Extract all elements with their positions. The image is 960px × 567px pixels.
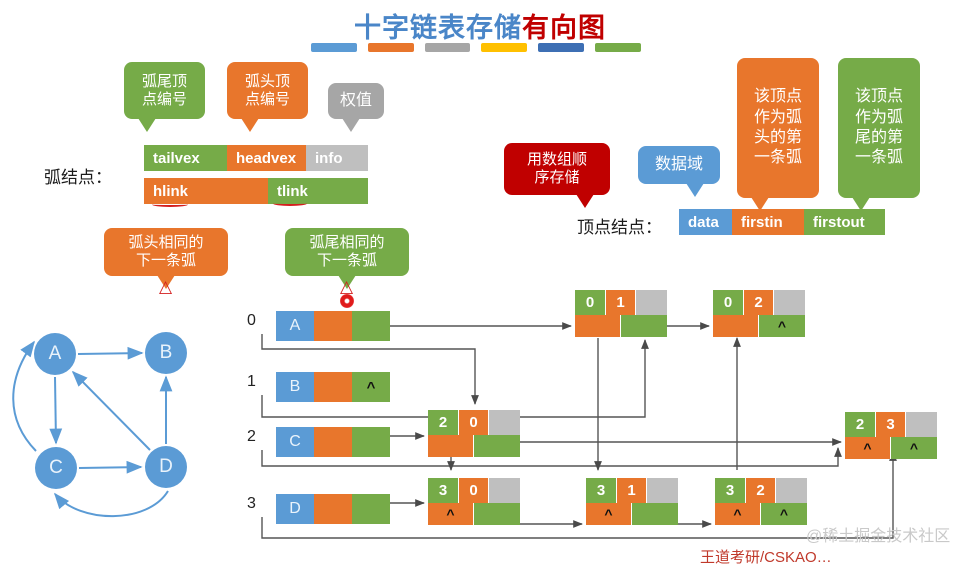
arc-3-2-hlink: ^ — [715, 503, 761, 525]
colorbar-seg-2 — [368, 43, 414, 52]
arc-3-0-tailvex: 3 — [428, 478, 459, 503]
arc-3-1-top: 3 1 — [586, 478, 678, 503]
colorbar-seg-1 — [311, 43, 357, 52]
tailvex-callout-line1: 弧尾顶 — [142, 73, 187, 91]
page-title: 十字链表存储有向图 — [0, 6, 960, 45]
arc-3-1-tlink — [632, 503, 678, 525]
vertex-1-firstout: ^ — [352, 372, 390, 402]
graph-node-d: D — [145, 446, 187, 488]
vertex-1-data: B — [276, 372, 314, 402]
arc-node-0-1: 0 1 — [575, 290, 667, 337]
arc-node-2-3: 2 3 ^ ^ — [845, 412, 937, 459]
vertex-3-firstout — [352, 494, 390, 524]
arc-node-2-0: 2 0 — [428, 410, 520, 457]
page-title-blue: 十字链表存储 — [354, 13, 522, 43]
graph-node-b: B — [145, 332, 187, 374]
arc-0-1-top: 0 1 — [575, 290, 667, 315]
arc-node-3-1: 3 1 ^ — [586, 478, 678, 525]
row-index-0: 0 — [247, 312, 256, 330]
data-domain-line1: 数据域 — [655, 156, 703, 175]
edge-d-c — [55, 491, 168, 516]
array-storage-line1: 用数组顺 — [527, 151, 587, 169]
vertex-3-firstin — [314, 494, 352, 524]
edge-c-a — [13, 342, 36, 451]
arc-3-1-headvex: 1 — [617, 478, 647, 503]
arc-node-0-2: 0 2 ^ — [713, 290, 805, 337]
info-callout-tail — [342, 118, 360, 132]
firstin-line2: 作为弧 — [754, 108, 802, 128]
arc-0-2-tailvex: 0 — [713, 290, 744, 315]
graph-node-a: A — [34, 333, 76, 375]
arc-2-3-hlink: ^ — [845, 437, 891, 459]
firstout-callout: 该顶点 作为弧 尾的第 一条弧 — [838, 58, 920, 198]
vertex-node-label: 顶点结点： — [577, 213, 662, 238]
arc-3-0-hlink: ^ — [428, 503, 474, 525]
vertex-row-3: D — [276, 494, 390, 524]
field-firstin: firstin — [732, 209, 804, 235]
arc-3-2-headvex: 2 — [746, 478, 776, 503]
arc-2-0-tailvex: 2 — [428, 410, 459, 435]
red-marker-dot — [340, 294, 354, 308]
arc-2-0-tlink — [474, 435, 520, 457]
arc-3-0-info — [489, 478, 520, 503]
arc-0-2-info — [774, 290, 805, 315]
edge-d-a — [73, 372, 150, 450]
field-hlink: hlink — [144, 178, 268, 204]
vertex-2-firstin — [314, 427, 352, 457]
firstin-callout: 该顶点 作为弧 头的第 一条弧 — [737, 58, 819, 198]
tlink-callout-line1: 弧尾相同的 — [309, 234, 384, 252]
colorbar-seg-6 — [595, 43, 641, 52]
vertex-row-0: A — [276, 311, 390, 341]
array-storage-line2: 序存储 — [534, 169, 579, 187]
arc-0-2-headvex: 2 — [744, 290, 774, 315]
slide-canvas: 十字链表存储有向图 弧尾顶 点编号 弧头顶 点编号 权值 弧结点： tailve… — [0, 0, 960, 556]
tlink-callout: 弧尾相同的 下一条弧 — [285, 228, 409, 276]
edge-a-c — [55, 377, 56, 443]
field-info: info — [306, 145, 368, 171]
vertex-3-data: D — [276, 494, 314, 524]
firstout-line3: 尾的第 — [855, 128, 903, 148]
vertex-0-firstout — [352, 311, 390, 341]
tlink-callout-line2: 下一条弧 — [317, 252, 377, 270]
hlink-callout-line2: 下一条弧 — [136, 252, 196, 270]
arc-0-1-tlink — [621, 315, 667, 337]
arc-3-0-top: 3 0 — [428, 478, 520, 503]
firstin-line1: 该顶点 — [754, 87, 802, 107]
arc-node-3-0: 3 0 ^ — [428, 478, 520, 525]
arc-0-1-info — [636, 290, 667, 315]
field-data: data — [679, 209, 732, 235]
array-storage-callout: 用数组顺 序存储 — [504, 143, 610, 195]
field-headvex: headvex — [227, 145, 306, 171]
watermark-red-text: 王道考研/CSKAO… — [700, 546, 832, 567]
headvex-callout-line1: 弧头顶 — [245, 73, 290, 91]
colorbar-seg-4 — [481, 43, 527, 52]
data-domain-callout: 数据域 — [638, 146, 720, 184]
tailvex-callout-line2: 点编号 — [142, 91, 187, 109]
vertex-2-data: C — [276, 427, 314, 457]
vertex-row-2: C — [276, 427, 390, 457]
arc-3-1-bottom: ^ — [586, 503, 678, 525]
hlink-pen-caret: △ — [159, 277, 172, 297]
arc-2-3-headvex: 3 — [876, 412, 906, 437]
hlink-pen-underline — [152, 202, 188, 207]
row-index-3: 3 — [247, 495, 256, 513]
vertex-node-row: data firstin firstout — [679, 209, 885, 235]
field-tailvex: tailvex — [144, 145, 227, 171]
arc-2-3-top: 2 3 — [845, 412, 937, 437]
arc-3-0-headvex: 0 — [459, 478, 489, 503]
data-domain-callout-tail — [686, 183, 704, 197]
arc-3-0-tlink — [474, 503, 520, 525]
hlink-callout: 弧头相同的 下一条弧 — [104, 228, 228, 276]
firstin-line4: 一条弧 — [754, 148, 802, 168]
colorbar-seg-3 — [425, 43, 471, 52]
arc-2-3-tlink: ^ — [891, 437, 937, 459]
arc-3-2-bottom: ^ ^ — [715, 503, 807, 525]
tailvex-callout-tail — [138, 118, 156, 132]
firstout-line2: 作为弧 — [855, 108, 903, 128]
arc-node-label: 弧结点： — [44, 163, 112, 188]
headvex-callout-line2: 点编号 — [245, 91, 290, 109]
arc-0-1-bottom — [575, 315, 667, 337]
row-index-1: 1 — [247, 373, 256, 391]
arc-0-2-top: 0 2 — [713, 290, 805, 315]
field-tlink: tlink — [268, 178, 368, 204]
arc-3-2-tailvex: 3 — [715, 478, 746, 503]
firstin-line3: 头的第 — [754, 128, 802, 148]
arc-3-1-tailvex: 3 — [586, 478, 617, 503]
arc-3-1-info — [647, 478, 678, 503]
arc-2-0-headvex: 0 — [459, 410, 489, 435]
firstout-line4: 一条弧 — [855, 148, 903, 168]
field-firstout: firstout — [804, 209, 885, 235]
watermark-text: @稀土掘金技术社区 — [806, 522, 950, 546]
arc-0-1-headvex: 1 — [606, 290, 636, 315]
vertex-2-firstout — [352, 427, 390, 457]
arc-0-2-hlink — [713, 315, 759, 337]
edge-a-b — [78, 353, 142, 354]
arc-2-3-info — [906, 412, 937, 437]
vertex-row-1: B ^ — [276, 372, 390, 402]
arc-2-0-top: 2 0 — [428, 410, 520, 435]
vertex-1-firstin — [314, 372, 352, 402]
arc-0-1-tailvex: 0 — [575, 290, 606, 315]
arc-2-0-info — [489, 410, 520, 435]
tailvex-callout: 弧尾顶 点编号 — [124, 62, 205, 119]
array-storage-callout-tail — [576, 194, 594, 208]
headvex-callout: 弧头顶 点编号 — [227, 62, 308, 119]
graph-node-c: C — [35, 447, 77, 489]
title-colorbar — [311, 43, 641, 52]
arc-2-0-bottom — [428, 435, 520, 457]
vertex-0-data: A — [276, 311, 314, 341]
info-callout-line1: 权值 — [340, 92, 372, 111]
edge-c-d — [79, 467, 141, 468]
firstout-line1: 该顶点 — [855, 87, 903, 107]
arc-0-1-hlink — [575, 315, 621, 337]
arc-3-1-hlink: ^ — [586, 503, 632, 525]
info-callout: 权值 — [328, 83, 384, 119]
arc-3-2-info — [776, 478, 807, 503]
vertex-0-firstin — [314, 311, 352, 341]
tlink-pen-underline — [273, 201, 307, 206]
arc-2-0-hlink — [428, 435, 474, 457]
arc-node-top-row: tailvex headvex info — [144, 145, 368, 171]
headvex-callout-tail — [241, 118, 259, 132]
arc-2-3-bottom: ^ ^ — [845, 437, 937, 459]
page-title-red: 有向图 — [522, 13, 606, 43]
arc-node-3-2: 3 2 ^ ^ — [715, 478, 807, 525]
arc-0-2-bottom: ^ — [713, 315, 805, 337]
colorbar-seg-5 — [538, 43, 584, 52]
arc-node-bottom-row: hlink tlink — [144, 178, 368, 204]
arc-3-2-top: 3 2 — [715, 478, 807, 503]
hlink-callout-line1: 弧头相同的 — [128, 234, 203, 252]
arc-2-3-tailvex: 2 — [845, 412, 876, 437]
arc-3-2-tlink: ^ — [761, 503, 807, 525]
arc-0-2-tlink: ^ — [759, 315, 805, 337]
arc-3-0-bottom: ^ — [428, 503, 520, 525]
row-index-2: 2 — [247, 428, 256, 446]
